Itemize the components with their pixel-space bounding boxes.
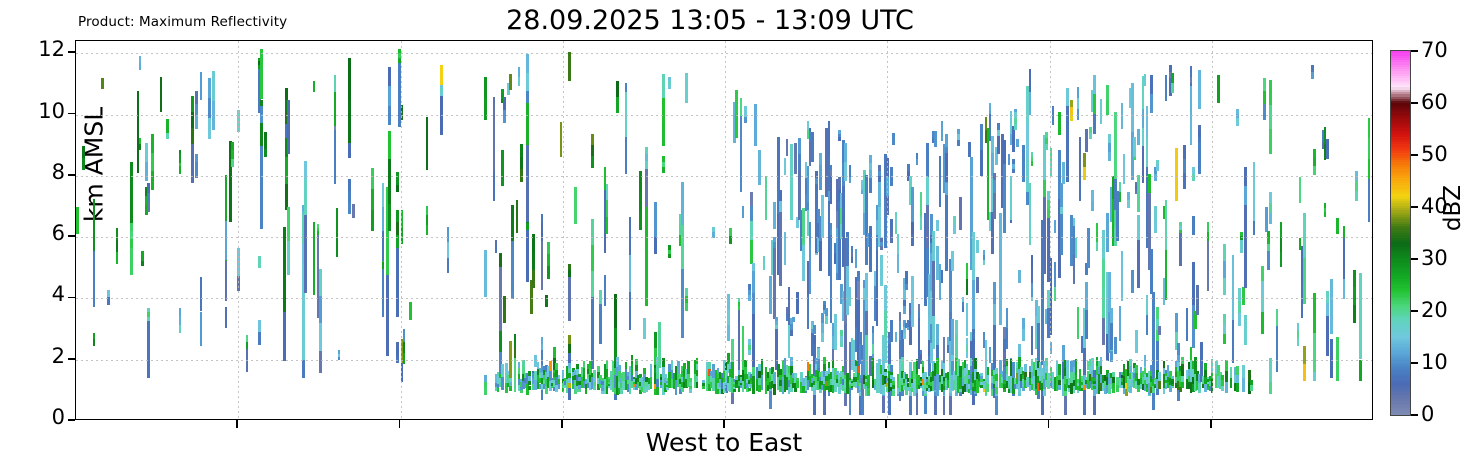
- y-axis-tick: [68, 235, 75, 237]
- y-axis-ticklabel: 8: [23, 160, 65, 184]
- y-axis-tick: [68, 51, 75, 53]
- colorbar-ticklabel: 60: [1421, 90, 1448, 114]
- y-axis-tick: [68, 174, 75, 176]
- x-axis-tick: [723, 420, 725, 428]
- colorbar-tick: [1411, 154, 1418, 156]
- y-axis-ticklabel: 0: [23, 405, 65, 429]
- y-axis-ticklabel: 4: [23, 282, 65, 306]
- x-axis-tick: [399, 420, 401, 428]
- colorbar-tick: [1411, 50, 1418, 52]
- colorbar-tick: [1411, 206, 1418, 208]
- colorbar-segment: [1391, 413, 1410, 416]
- colorbar-ticklabel: 70: [1421, 38, 1448, 62]
- plot-area: [75, 40, 1373, 420]
- x-axis-tick: [236, 420, 238, 428]
- reflectivity-cell: [1372, 141, 1373, 156]
- radar-cross-section-figure: Product: Maximum Reflectivity 28.09.2025…: [0, 0, 1482, 470]
- reflectivity-field: [76, 41, 1372, 419]
- page-title: 28.09.2025 13:05 - 13:09 UTC: [0, 5, 1420, 36]
- y-axis-ticklabel: 10: [23, 99, 65, 123]
- y-axis-tick: [68, 358, 75, 360]
- colorbar-ticklabel: 0: [1421, 402, 1434, 426]
- colorbar-ticklabel: 20: [1421, 298, 1448, 322]
- x-axis-tick: [561, 420, 563, 428]
- colorbar-ticklabel: 10: [1421, 350, 1448, 374]
- x-axis-title: West to East: [75, 428, 1373, 457]
- y-axis-tick: [68, 113, 75, 115]
- x-axis-tick: [885, 420, 887, 428]
- reflectivity-column: [1372, 41, 1373, 420]
- colorbar-tick: [1411, 258, 1418, 260]
- colorbar: [1390, 50, 1411, 416]
- y-axis-tick: [68, 297, 75, 299]
- y-axis-ticklabel: 6: [23, 221, 65, 245]
- colorbar-tick: [1411, 310, 1418, 312]
- reflectivity-cell: [1372, 156, 1373, 223]
- y-axis-tick: [68, 419, 75, 421]
- colorbar-tick: [1411, 362, 1418, 364]
- x-axis-tick: [1210, 420, 1212, 428]
- colorbar-title: dBZ: [1440, 148, 1466, 268]
- y-axis-ticklabel: 12: [23, 37, 65, 61]
- x-axis-tick: [1048, 420, 1050, 428]
- colorbar-tick: [1411, 102, 1418, 104]
- colorbar-tick: [1411, 414, 1418, 416]
- y-axis-ticklabel: 2: [23, 344, 65, 368]
